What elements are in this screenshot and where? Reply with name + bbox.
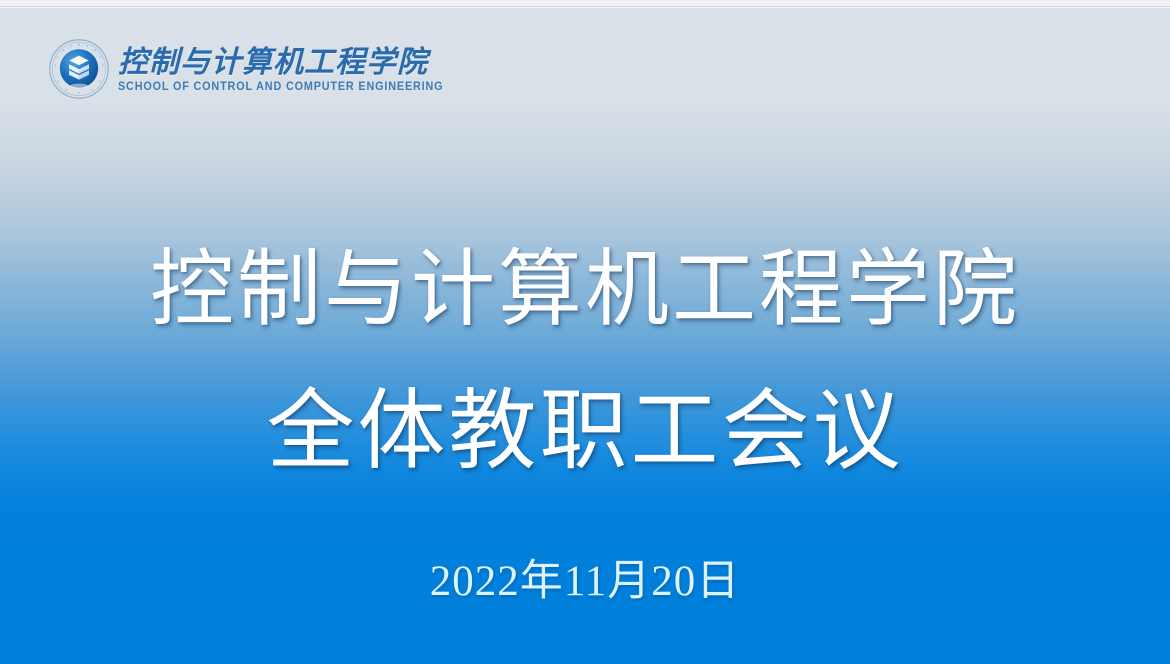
presentation-slide: 控制与计算机工程学院 SCHOOL OF CONTROL AND COMPUTE… bbox=[0, 0, 1170, 664]
school-logo-wordmark: 控制与计算机工程学院 SCHOOL OF CONTROL AND COMPUTE… bbox=[118, 45, 464, 94]
school-seal-icon bbox=[48, 38, 110, 100]
slide-top-strip bbox=[0, 0, 1170, 7]
school-name-chinese: 控制与计算机工程学院 bbox=[118, 47, 464, 79]
school-name-english: SCHOOL OF CONTROL AND COMPUTER ENGINEERI… bbox=[118, 81, 443, 93]
school-logo-lockup: 控制与计算机工程学院 SCHOOL OF CONTROL AND COMPUTE… bbox=[48, 38, 464, 100]
slide-background-gradient bbox=[0, 8, 1170, 664]
